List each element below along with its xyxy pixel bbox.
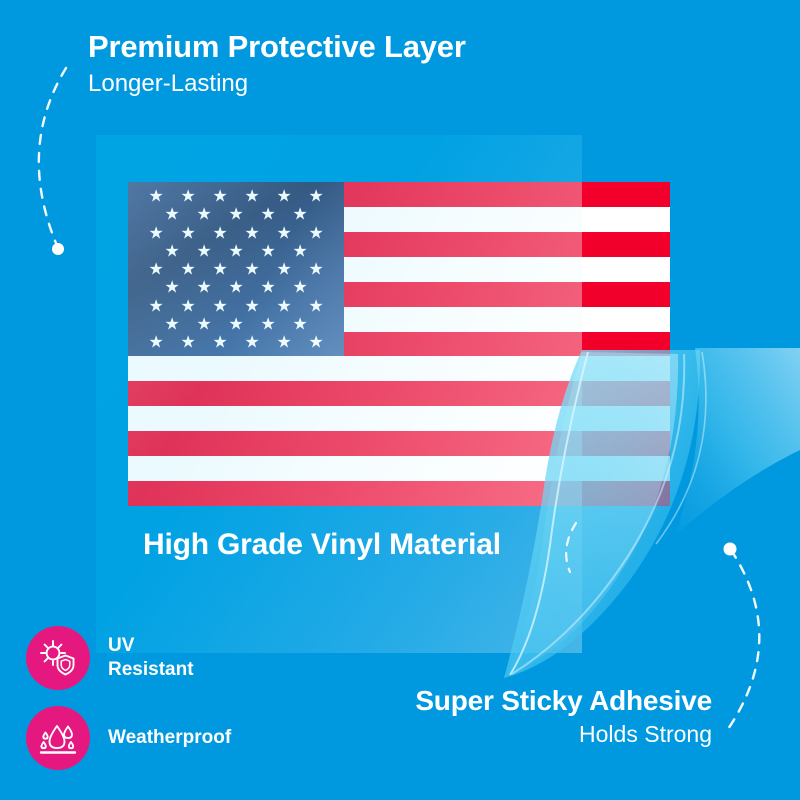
flag-star: ★ bbox=[245, 333, 260, 350]
flag-star: ★ bbox=[165, 206, 180, 223]
flag-canton: ★★★★★★★★★★★★★★★★★★★★★★★★★★★★★★★★★★★★★★★★… bbox=[128, 182, 344, 356]
flag-star: ★ bbox=[277, 224, 292, 241]
flag-star: ★ bbox=[197, 206, 212, 223]
flag-stripe bbox=[128, 356, 670, 382]
flag-star: ★ bbox=[245, 188, 260, 205]
flag-star: ★ bbox=[261, 279, 276, 296]
flag-star: ★ bbox=[293, 315, 308, 332]
flag-star: ★ bbox=[149, 261, 164, 278]
flag-star: ★ bbox=[277, 297, 292, 314]
peel-upper-wedge bbox=[675, 348, 800, 535]
badge-circle-weatherproof bbox=[26, 706, 90, 770]
flag-star: ★ bbox=[261, 315, 276, 332]
flag-star: ★ bbox=[165, 279, 180, 296]
flag-star: ★ bbox=[293, 242, 308, 259]
dashed-arc-top-left bbox=[39, 68, 66, 248]
dashed-arc-bottom-right bbox=[726, 550, 759, 732]
flag-star: ★ bbox=[197, 315, 212, 332]
flag-star: ★ bbox=[309, 261, 324, 278]
feature-badge-label: Weatherproof bbox=[108, 726, 231, 750]
feature-badge-uv-resistant: UV Resistant bbox=[26, 618, 231, 698]
sun-shield-icon bbox=[38, 638, 78, 678]
vinyl-material-label: High Grade Vinyl Material bbox=[143, 528, 501, 562]
flag-star: ★ bbox=[277, 188, 292, 205]
flag-star: ★ bbox=[197, 242, 212, 259]
badge-circle-uv bbox=[26, 626, 90, 690]
page-subtitle: Longer-Lasting bbox=[88, 70, 708, 99]
flag-star: ★ bbox=[309, 333, 324, 350]
flag-star: ★ bbox=[181, 297, 196, 314]
arc-dot-bottom-right bbox=[724, 543, 737, 556]
adhesive-subtitle: Holds Strong bbox=[415, 721, 712, 748]
headline-block: Premium Protective Layer Longer-Lasting bbox=[88, 30, 708, 99]
flag-star: ★ bbox=[149, 188, 164, 205]
page-title: Premium Protective Layer bbox=[88, 30, 708, 65]
flag-star: ★ bbox=[165, 315, 180, 332]
flag-star: ★ bbox=[277, 261, 292, 278]
flag-stripe bbox=[128, 481, 670, 506]
flag-star: ★ bbox=[229, 242, 244, 259]
adhesive-title: Super Sticky Adhesive bbox=[415, 685, 712, 717]
flag-star: ★ bbox=[213, 188, 228, 205]
flag-star: ★ bbox=[261, 206, 276, 223]
flag-star: ★ bbox=[181, 224, 196, 241]
flag-star: ★ bbox=[165, 242, 180, 259]
feature-badge-weatherproof: Weatherproof bbox=[26, 698, 231, 778]
flag-star: ★ bbox=[293, 206, 308, 223]
flag-star: ★ bbox=[213, 224, 228, 241]
flag-star: ★ bbox=[197, 279, 212, 296]
feature-badge-label: UV Resistant bbox=[108, 634, 194, 682]
flag-stripe bbox=[128, 381, 670, 407]
flag-star: ★ bbox=[229, 315, 244, 332]
arc-dot-top-left bbox=[52, 243, 64, 255]
flag-star: ★ bbox=[149, 297, 164, 314]
flag-stripe bbox=[128, 431, 670, 457]
flag-star: ★ bbox=[309, 188, 324, 205]
flag-star: ★ bbox=[213, 297, 228, 314]
flag-star: ★ bbox=[245, 224, 260, 241]
flag-star: ★ bbox=[181, 333, 196, 350]
flag-star: ★ bbox=[149, 224, 164, 241]
flag-star: ★ bbox=[245, 297, 260, 314]
flag-star: ★ bbox=[309, 224, 324, 241]
flag-star: ★ bbox=[261, 242, 276, 259]
flag-star: ★ bbox=[149, 333, 164, 350]
flag-star: ★ bbox=[309, 297, 324, 314]
water-droplet-icon bbox=[38, 718, 78, 758]
flag-star: ★ bbox=[277, 333, 292, 350]
feature-badge-list: UV Resistant bbox=[26, 618, 231, 778]
flag-star: ★ bbox=[213, 261, 228, 278]
flag-star: ★ bbox=[181, 188, 196, 205]
flag-star: ★ bbox=[229, 206, 244, 223]
flag-star: ★ bbox=[229, 279, 244, 296]
flag-star: ★ bbox=[293, 279, 308, 296]
infographic-canvas: ★★★★★★★★★★★★★★★★★★★★★★★★★★★★★★★★★★★★★★★★… bbox=[0, 0, 800, 800]
flag-stripe bbox=[128, 456, 670, 482]
flag-star: ★ bbox=[213, 333, 228, 350]
flag-star: ★ bbox=[245, 261, 260, 278]
adhesive-block: Super Sticky Adhesive Holds Strong bbox=[415, 685, 712, 748]
flag-star: ★ bbox=[181, 261, 196, 278]
united-states-flag: ★★★★★★★★★★★★★★★★★★★★★★★★★★★★★★★★★★★★★★★★… bbox=[128, 182, 670, 506]
flag-stripe bbox=[128, 406, 670, 432]
